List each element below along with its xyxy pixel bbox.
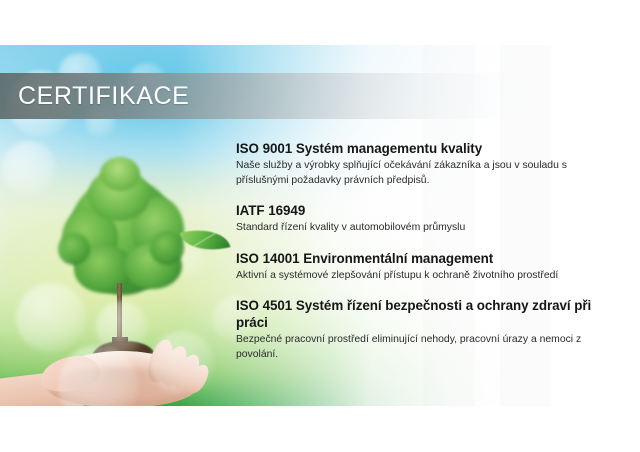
certification-item: ISO 9001 Systém managementu kvality Naše… [236, 140, 608, 188]
certification-description: Standard řízení kvality v automobilovém … [236, 221, 608, 236]
presentation-slide: CERTIFIKACE ISO 9001 Systém managementu … [0, 45, 640, 406]
title-banner: CERTIFIKACE [0, 73, 640, 119]
certification-item: ISO 14001 Environmentální management Akt… [236, 250, 608, 284]
certification-description: Bezpečné pracovní prostředí eliminující … [236, 333, 608, 362]
tree-canopy-lobe [100, 157, 140, 191]
tree-canopy-lobe [58, 233, 90, 265]
certification-item: ISO 4501 Systém řízení bezpečnosti a och… [236, 297, 608, 362]
certification-description: Naše služby a výrobky splňující očekáván… [236, 159, 608, 188]
floating-leaf-icon [180, 222, 231, 258]
page-title: CERTIFIKACE [18, 79, 189, 113]
certification-list: ISO 9001 Systém managementu kvality Naše… [236, 140, 608, 362]
certification-title: ISO 9001 Systém managementu kvality [236, 140, 608, 157]
certification-title: ISO 14001 Environmentální management [236, 250, 608, 267]
certification-title: ISO 4501 Systém řízení bezpečnosti a och… [236, 297, 608, 331]
slide-frame: CERTIFIKACE ISO 9001 Systém managementu … [0, 0, 640, 452]
certification-item: IATF 16949 Standard řízení kvality v aut… [236, 202, 608, 236]
tree-canopy-lobe [150, 231, 184, 265]
certification-title: IATF 16949 [236, 202, 608, 219]
certification-description: Aktivní a systémové zlepšování přístupu … [236, 269, 608, 284]
palm-shadow [58, 367, 178, 397]
